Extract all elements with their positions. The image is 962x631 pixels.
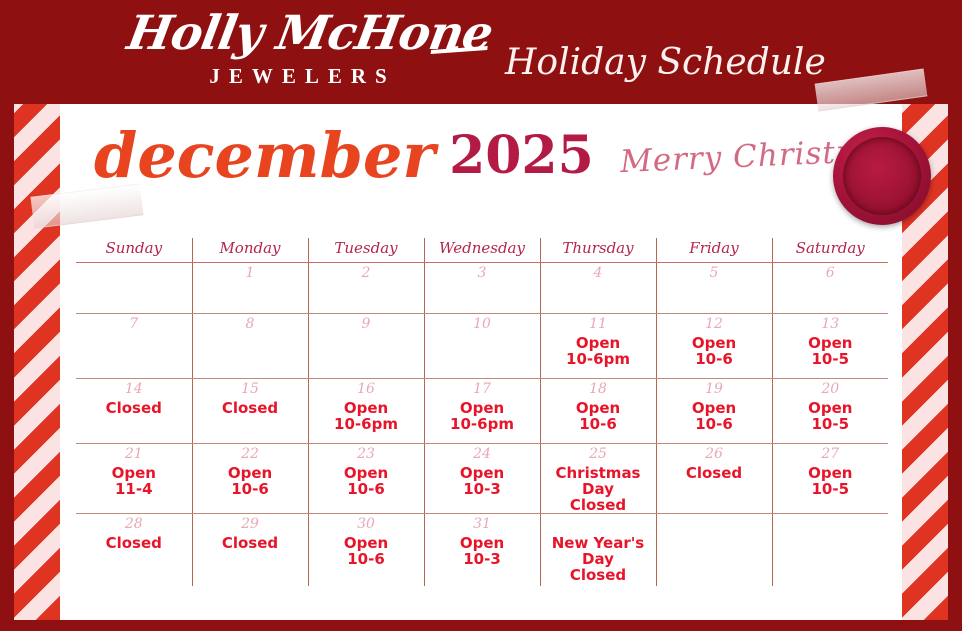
day-number: 2	[309, 263, 424, 282]
day-number: 31	[425, 514, 540, 533]
calendar-day-cell[interactable]: 11Open 10-6pm	[540, 314, 656, 379]
day-number: 17	[425, 379, 540, 398]
day-schedule-entry: Open 10-6	[541, 398, 656, 432]
calendar-day-cell[interactable]: 16Open 10-6pm	[308, 379, 424, 444]
day-number: 16	[309, 379, 424, 398]
weekday-header-tuesday: Tuesday	[308, 238, 424, 263]
day-schedule-entry: Open 10-6	[657, 333, 772, 367]
day-number: 21	[76, 444, 192, 463]
day-schedule-entry: Closed	[76, 398, 192, 416]
day-schedule-entry: Open 10-3	[425, 463, 540, 497]
day-number: 4	[541, 263, 656, 282]
day-schedule-entry: Open 10-6	[193, 463, 308, 497]
calendar-day-cell[interactable]: 13Open 10-5	[772, 314, 888, 379]
day-schedule-entry: Closed	[193, 533, 308, 551]
calendar-day-cell[interactable]: 18Open 10-6	[540, 379, 656, 444]
day-number: 29	[193, 514, 308, 533]
calendar-day-cell[interactable]: 25Christmas Day Closed	[540, 444, 656, 514]
day-schedule-entry: New Year's Day Closed	[541, 533, 656, 583]
day-schedule-entry	[193, 333, 308, 335]
day-number: 5	[657, 263, 772, 282]
calendar-inner: december 2025 Merry Christmas Sunday Mon…	[60, 104, 902, 620]
day-number: 25	[541, 444, 656, 463]
calendar-week-row: 28Closed29Closed30Open 10-631Open 10-3Ne…	[76, 514, 888, 587]
day-number	[657, 514, 772, 533]
logo-subtitle: JEWELERS	[128, 64, 468, 89]
day-schedule-entry	[76, 333, 192, 335]
calendar-day-cell[interactable]: 15Closed	[192, 379, 308, 444]
calendar-day-cell[interactable]: 31Open 10-3	[424, 514, 540, 587]
day-schedule-entry: Open 10-6pm	[309, 398, 424, 432]
day-number: 15	[193, 379, 308, 398]
day-schedule-entry	[76, 282, 192, 284]
calendar-day-cell[interactable]: 21Open 11-4	[76, 444, 192, 514]
day-number: 9	[309, 314, 424, 333]
calendar-day-cell[interactable]: 28Closed	[76, 514, 192, 587]
day-schedule-entry: Open 10-6pm	[425, 398, 540, 432]
day-schedule-entry: Christmas Day Closed	[541, 463, 656, 513]
day-schedule-entry: Open 10-3	[425, 533, 540, 567]
month-label: december	[94, 125, 435, 187]
weekday-header-friday: Friday	[656, 238, 772, 263]
day-schedule-entry	[773, 533, 889, 535]
day-number: 12	[657, 314, 772, 333]
day-number: 24	[425, 444, 540, 463]
calendar-card: december 2025 Merry Christmas Sunday Mon…	[14, 104, 948, 620]
calendar-day-cell[interactable]: 12Open 10-6	[656, 314, 772, 379]
day-schedule-entry: Open 10-5	[773, 398, 889, 432]
calendar-week-row: 21Open 11-422Open 10-623Open 10-624Open …	[76, 444, 888, 514]
day-number: 28	[76, 514, 192, 533]
calendar-day-cell[interactable]: 10	[424, 314, 540, 379]
day-number: 20	[773, 379, 889, 398]
day-number: 18	[541, 379, 656, 398]
day-schedule-entry	[541, 282, 656, 284]
calendar-day-cell[interactable]: 26Closed	[656, 444, 772, 514]
calendar-grid: Sunday Monday Tuesday Wednesday Thursday…	[76, 238, 888, 610]
day-schedule-entry: Open 10-5	[773, 463, 889, 497]
day-schedule-entry: Closed	[193, 398, 308, 416]
day-number: 6	[773, 263, 889, 282]
calendar-day-cell[interactable]: 19Open 10-6	[656, 379, 772, 444]
day-schedule-entry: Open 10-5	[773, 333, 889, 367]
calendar-day-cell[interactable]: 1	[192, 263, 308, 314]
day-schedule-entry	[309, 333, 424, 335]
calendar-table: Sunday Monday Tuesday Wednesday Thursday…	[76, 238, 888, 586]
weekday-header-monday: Monday	[192, 238, 308, 263]
day-schedule-entry	[657, 533, 772, 535]
day-number: 14	[76, 379, 192, 398]
calendar-day-cell[interactable]: 30Open 10-6	[308, 514, 424, 587]
day-schedule-entry	[425, 333, 540, 335]
day-number: 7	[76, 314, 192, 333]
calendar-day-cell[interactable]: 17Open 10-6pm	[424, 379, 540, 444]
calendar-day-cell[interactable]: 22Open 10-6	[192, 444, 308, 514]
calendar-day-cell[interactable]	[656, 514, 772, 587]
day-number	[76, 263, 192, 282]
calendar-day-cell[interactable]	[76, 263, 192, 314]
day-number: 10	[425, 314, 540, 333]
weekday-header-wednesday: Wednesday	[424, 238, 540, 263]
candy-stripe-left	[14, 104, 60, 620]
month-banner: december 2025 Merry Christmas	[60, 112, 902, 200]
day-number: 30	[309, 514, 424, 533]
day-schedule-entry: Open 10-6	[657, 398, 772, 432]
calendar-body: 1234567891011Open 10-6pm12Open 10-613Ope…	[76, 263, 888, 587]
weekday-header-thursday: Thursday	[540, 238, 656, 263]
calendar-day-cell[interactable]: 14Closed	[76, 379, 192, 444]
day-schedule-entry	[425, 282, 540, 284]
calendar-day-cell[interactable]: 7	[76, 314, 192, 379]
logo-wordmark: Holly McHone	[123, 8, 472, 60]
brand-logo: Holly McHone JEWELERS	[128, 8, 468, 100]
day-schedule-entry	[657, 282, 772, 284]
calendar-day-cell[interactable]: 24Open 10-3	[424, 444, 540, 514]
day-number: 11	[541, 314, 656, 333]
day-number: 23	[309, 444, 424, 463]
calendar-day-cell[interactable]: 8	[192, 314, 308, 379]
calendar-day-cell[interactable]: 9	[308, 314, 424, 379]
day-schedule-entry: Open 10-6pm	[541, 333, 656, 367]
weekday-header-row: Sunday Monday Tuesday Wednesday Thursday…	[76, 238, 888, 263]
day-number: 22	[193, 444, 308, 463]
year-label: 2025	[449, 128, 594, 184]
day-schedule-entry	[193, 282, 308, 284]
page-title: Holiday Schedule	[505, 42, 815, 83]
day-schedule-entry	[773, 282, 889, 284]
calendar-day-cell[interactable]: 20Open 10-5	[772, 379, 888, 444]
day-schedule-entry	[309, 282, 424, 284]
calendar-week-row: 123456	[76, 263, 888, 314]
day-schedule-entry: Closed	[657, 463, 772, 481]
day-schedule-entry: Open 10-6	[309, 533, 424, 567]
day-number: 3	[425, 263, 540, 282]
day-number	[541, 514, 656, 533]
day-schedule-entry: Open 11-4	[76, 463, 192, 497]
calendar-week-row: 14Closed15Closed16Open 10-6pm17Open 10-6…	[76, 379, 888, 444]
calendar-day-cell[interactable]: 4	[540, 263, 656, 314]
calendar-day-cell[interactable]: 23Open 10-6	[308, 444, 424, 514]
calendar-week-row: 7891011Open 10-6pm12Open 10-613Open 10-5	[76, 314, 888, 379]
weekday-header-sunday: Sunday	[76, 238, 192, 263]
calendar-day-cell[interactable]: 29Closed	[192, 514, 308, 587]
calendar-day-cell[interactable]	[772, 514, 888, 587]
calendar-day-cell[interactable]: New Year's Day Closed	[540, 514, 656, 587]
day-number: 1	[193, 263, 308, 282]
wax-seal-icon	[833, 127, 931, 225]
day-number: 19	[657, 379, 772, 398]
calendar-day-cell[interactable]: 6	[772, 263, 888, 314]
weekday-header-saturday: Saturday	[772, 238, 888, 263]
day-schedule-entry: Open 10-6	[309, 463, 424, 497]
calendar-day-cell[interactable]: 5	[656, 263, 772, 314]
day-number: 26	[657, 444, 772, 463]
day-number	[773, 514, 889, 533]
day-number: 27	[773, 444, 889, 463]
day-number: 13	[773, 314, 889, 333]
calendar-day-cell[interactable]: 2	[308, 263, 424, 314]
day-schedule-entry: Closed	[76, 533, 192, 551]
calendar-day-cell[interactable]: 3	[424, 263, 540, 314]
day-number: 8	[193, 314, 308, 333]
calendar-day-cell[interactable]: 27Open 10-5	[772, 444, 888, 514]
